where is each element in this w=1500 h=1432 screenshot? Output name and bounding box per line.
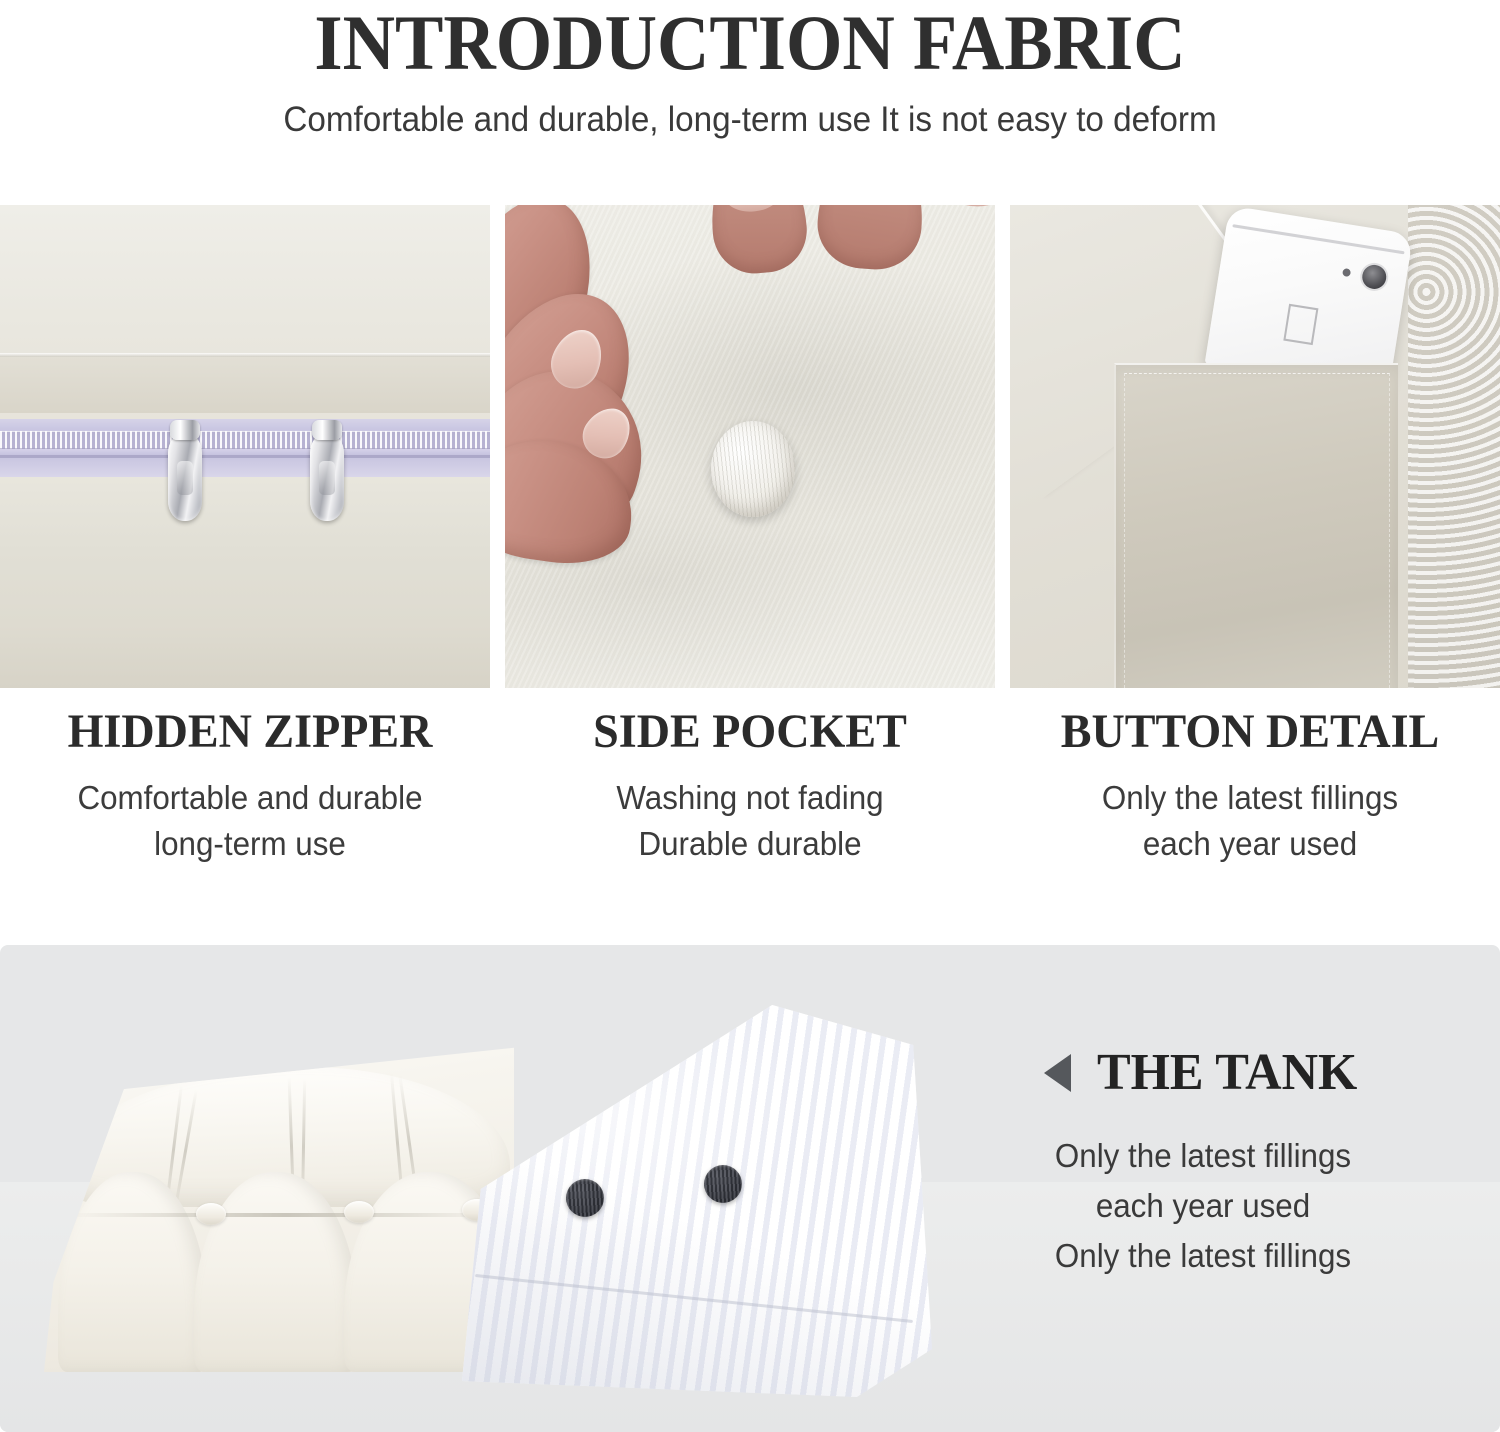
upper-fingers <box>711 205 961 287</box>
tank-section: THE TANK Only the latest fillings each y… <box>0 945 1500 1432</box>
pillow-tufting-line <box>66 1213 506 1217</box>
tank-title: THE TANK <box>1097 1045 1357 1101</box>
caption-title: BUTTON DETAIL <box>1010 705 1490 759</box>
page-header: INTRODUCTION FABRIC Comfortable and dura… <box>0 0 1500 140</box>
caption-title: HIDDEN ZIPPER <box>10 705 490 759</box>
fabric-button-photo <box>505 205 995 688</box>
wedge-pillow-photo <box>44 997 924 1397</box>
pillow-tuft-button <box>196 1203 226 1225</box>
caption-button-detail: BUTTON DETAIL Only the latest fillings e… <box>1000 705 1500 905</box>
feature-image-row:  <box>0 205 1500 688</box>
caption-body: Only the latest fillings each year used <box>1013 775 1488 867</box>
caption-body-line-1: Washing not fading <box>513 775 988 821</box>
caption-body-line-1: Comfortable and durable <box>13 775 488 821</box>
insert-button <box>704 1165 742 1203</box>
phone-flash-icon <box>1342 268 1351 277</box>
side-pocket <box>1114 363 1398 688</box>
tank-heading: THE TANK <box>978 1045 1428 1101</box>
page-title: INTRODUCTION FABRIC <box>53 2 1448 82</box>
caption-hidden-zipper: HIDDEN ZIPPER Comfortable and durable lo… <box>0 705 500 905</box>
page-subtitle: Comfortable and durable, long-term use I… <box>38 100 1463 140</box>
tank-body-line-1: Only the latest fillings <box>989 1131 1417 1181</box>
caption-side-pocket: SIDE POCKET Washing not fading Durable d… <box>500 705 1000 905</box>
phone-camera-icon <box>1361 263 1388 290</box>
tank-text-block: THE TANK Only the latest fillings each y… <box>978 1045 1428 1281</box>
zipper-teeth <box>0 431 490 449</box>
zipper-pull-left-icon <box>168 433 202 521</box>
feature-caption-row: HIDDEN ZIPPER Comfortable and durable lo… <box>0 705 1500 905</box>
phone-antenna-line <box>1232 224 1404 254</box>
tank-body: Only the latest fillings each year used … <box>989 1131 1417 1281</box>
finger-top-2 <box>815 205 928 272</box>
tank-body-line-2: each year used <box>989 1181 1417 1231</box>
apple-logo-icon:  <box>1274 299 1328 358</box>
tank-body-line-3: Only the latest fillings <box>989 1231 1417 1281</box>
hand <box>505 211 737 531</box>
pillow-striped-insert <box>462 997 932 1397</box>
left-triangle-icon <box>1044 1054 1071 1092</box>
hidden-zipper-photo <box>0 205 490 688</box>
zipper-seam-line <box>0 455 490 458</box>
caption-body-line-2: long-term use <box>13 821 488 867</box>
side-pocket-phone-photo:  <box>1010 205 1500 688</box>
caption-body-line-2: each year used <box>1013 821 1488 867</box>
caption-body-line-1: Only the latest fillings <box>1013 775 1488 821</box>
caption-title: SIDE POCKET <box>510 705 990 759</box>
fabric-lower-panel <box>0 477 490 688</box>
pillow-cream-cover <box>44 1027 514 1372</box>
pillow-tuft-button <box>344 1201 374 1223</box>
caption-body: Washing not fading Durable durable <box>513 775 988 867</box>
sherpa-fleece-edge <box>1408 205 1500 688</box>
caption-body: Comfortable and durable long-term use <box>13 775 488 867</box>
fabric-upper-band <box>0 357 490 413</box>
caption-body-line-2: Durable durable <box>513 821 988 867</box>
fabric-seam <box>0 353 490 357</box>
zipper-pull-right-icon <box>310 433 344 521</box>
insert-button <box>566 1179 604 1217</box>
fabric-covered-button <box>711 421 795 517</box>
